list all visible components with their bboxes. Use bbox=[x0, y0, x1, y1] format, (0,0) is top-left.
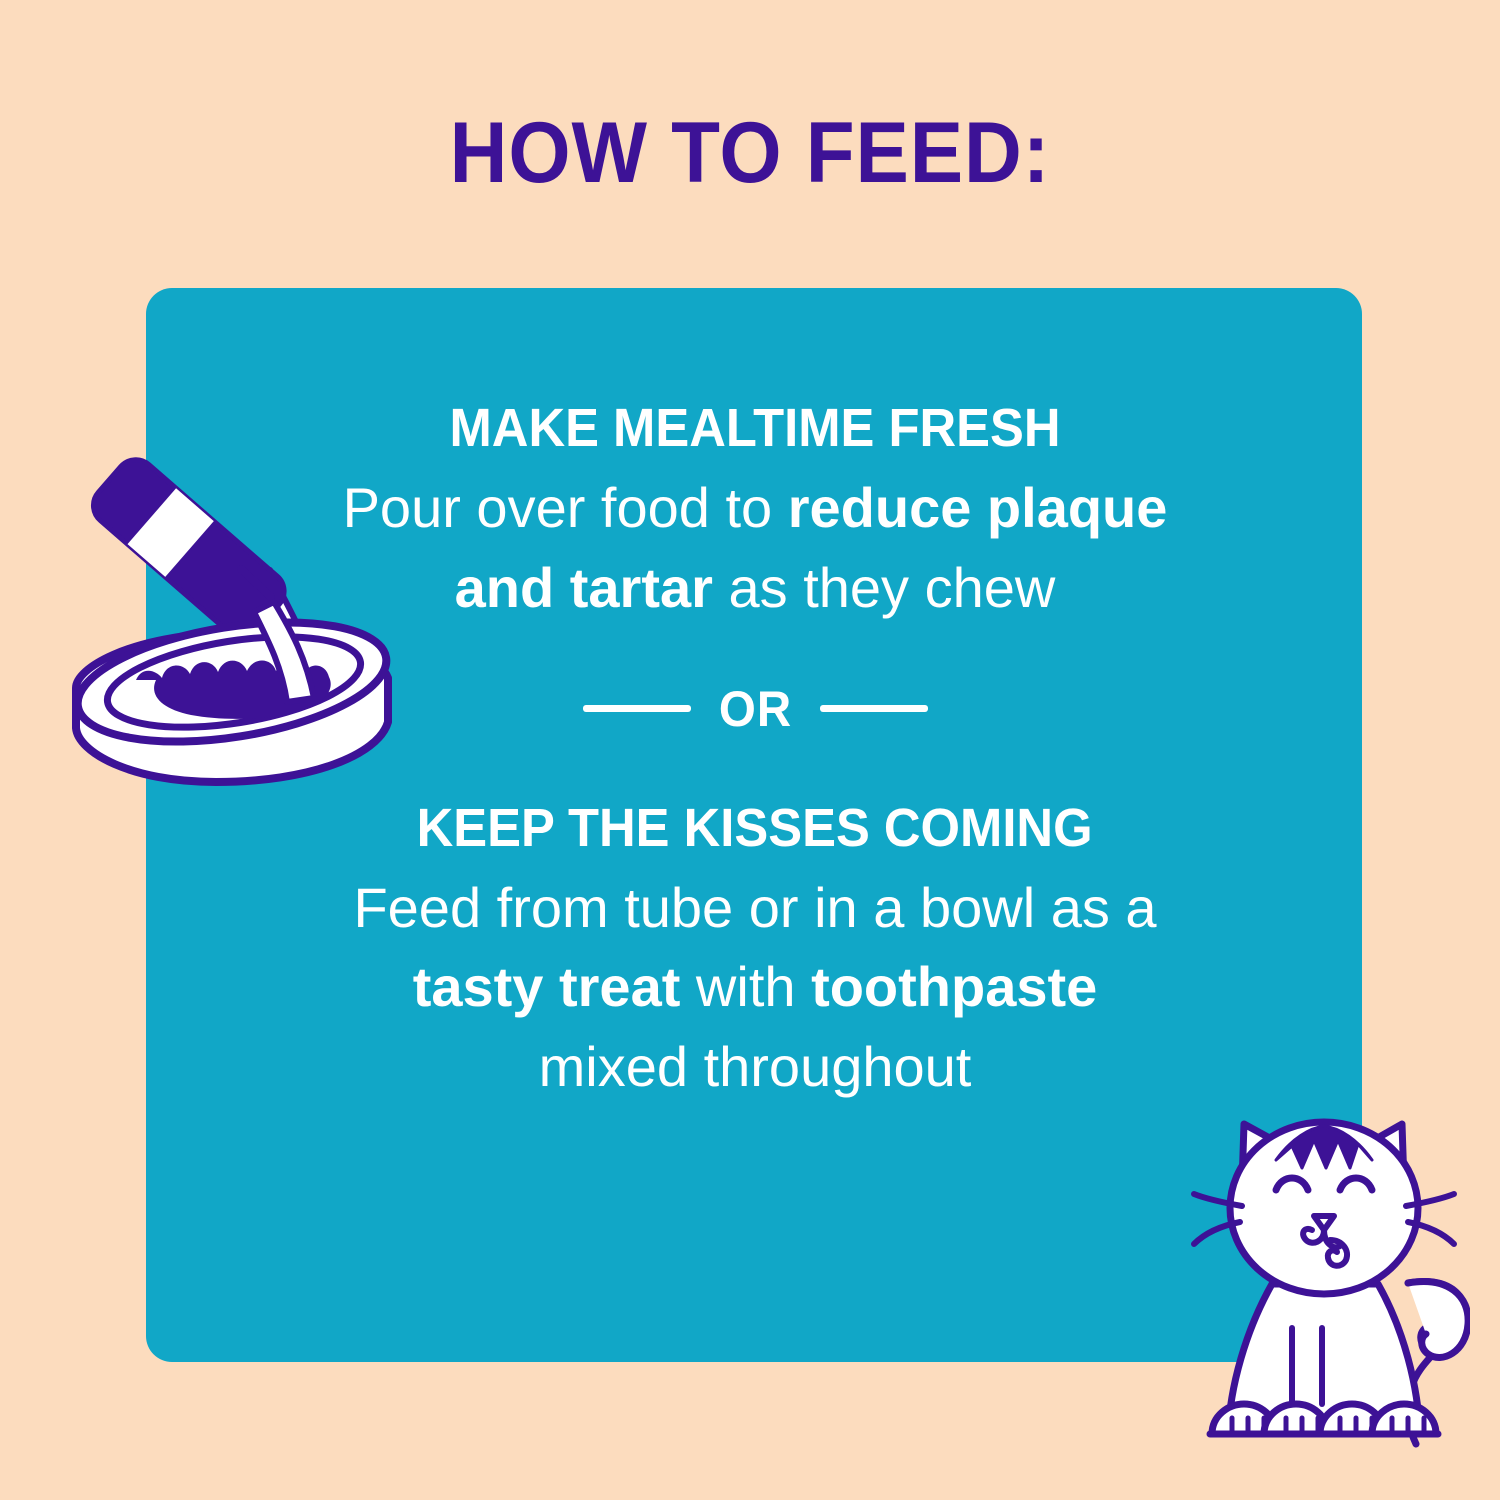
section-body-make-mealtime-fresh: Pour over food to reduce plaque and tart… bbox=[335, 468, 1175, 627]
section-heading-make-mealtime-fresh: MAKE MEALTIME FRESH bbox=[449, 398, 1060, 458]
card-content: MAKE MEALTIME FRESH Pour over food to re… bbox=[300, 288, 1210, 1362]
cat-ear-right bbox=[1360, 1124, 1404, 1184]
cat-paw-2 bbox=[1264, 1404, 1328, 1434]
section-body-keep-the-kisses-coming: Feed from tube or in a bowl as a tasty t… bbox=[335, 868, 1175, 1107]
page-title: HOW TO FEED: bbox=[53, 108, 1448, 198]
or-divider: OR bbox=[300, 680, 1210, 738]
cat-paw-3 bbox=[1320, 1404, 1384, 1434]
divider-label: OR bbox=[718, 680, 791, 738]
cat-tail-icon bbox=[1408, 1281, 1466, 1444]
divider-line-left bbox=[583, 705, 691, 712]
section-heading-keep-the-kisses-coming: KEEP THE KISSES COMING bbox=[417, 798, 1093, 858]
cat-paw-1 bbox=[1212, 1404, 1276, 1434]
cat-tail-fill bbox=[1408, 1282, 1468, 1358]
cat-toe-lines bbox=[1232, 1418, 1424, 1434]
infographic-canvas: HOW TO FEED: MAKE MEALTIME FRESH Pour ov… bbox=[0, 0, 1500, 1500]
cat-paw-4 bbox=[1372, 1404, 1436, 1434]
divider-line-right bbox=[820, 705, 928, 712]
